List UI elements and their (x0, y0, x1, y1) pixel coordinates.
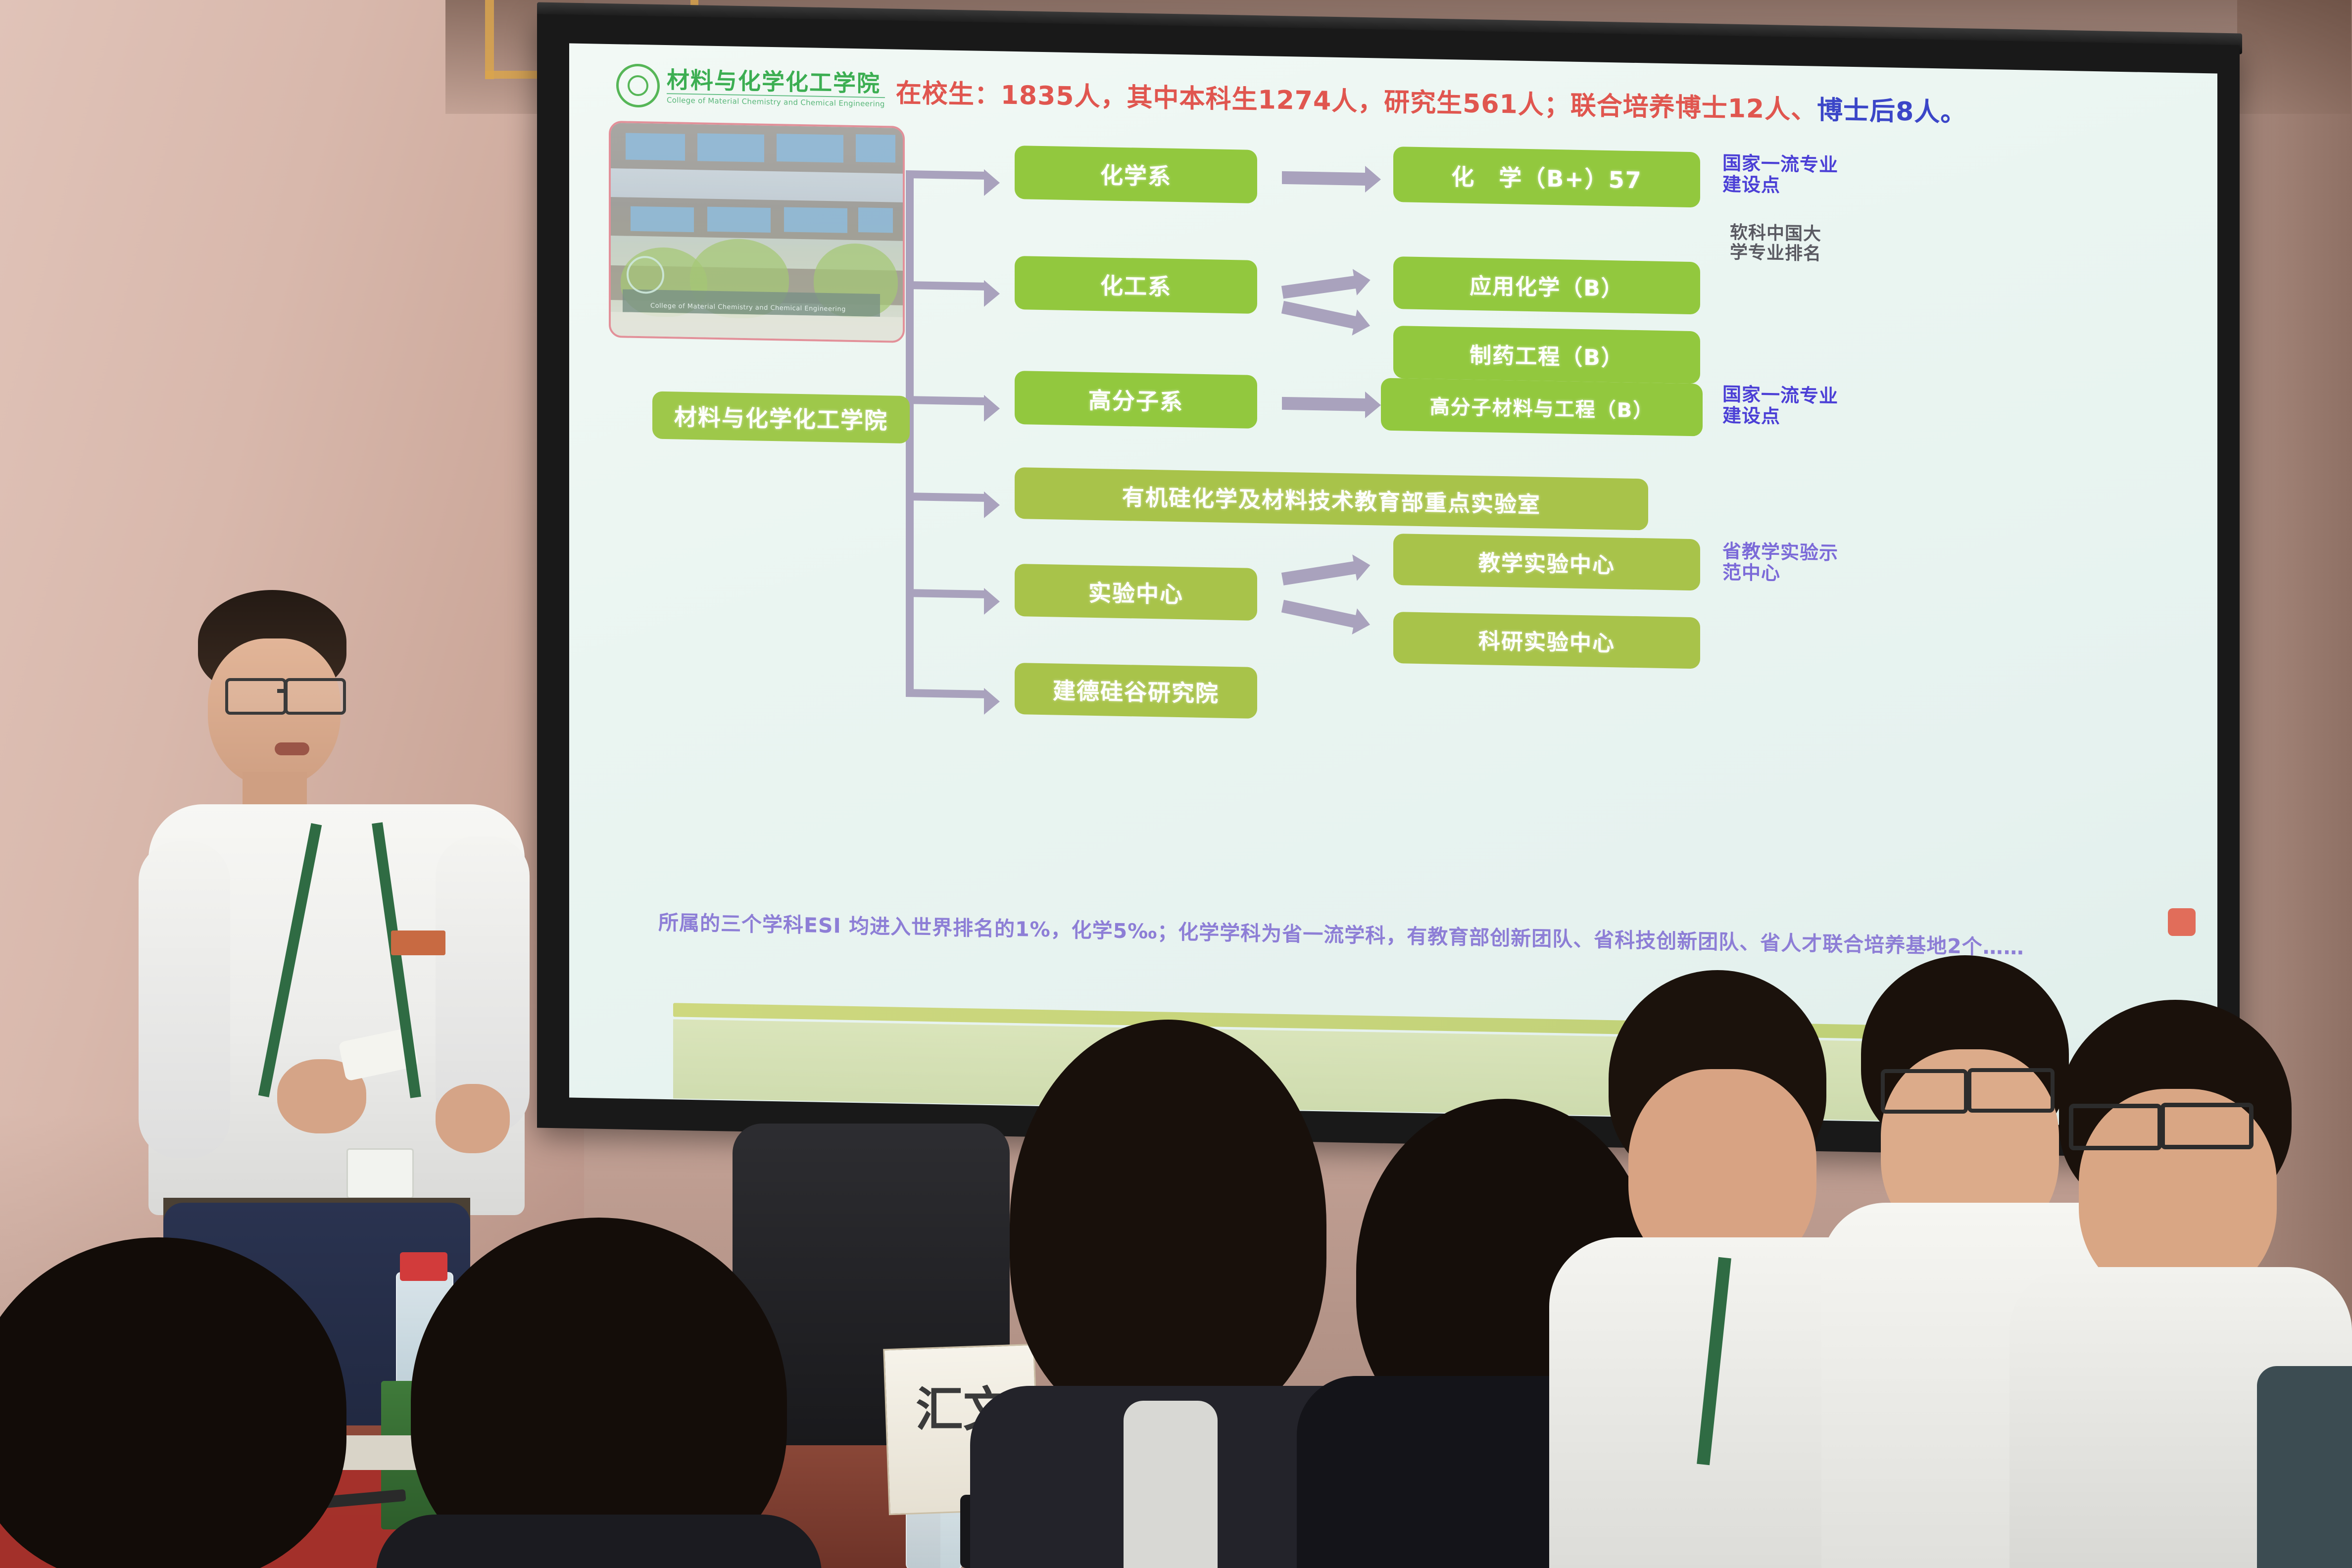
major-pharmaceutical-engineering[interactable]: 制药工程（B） (1393, 326, 1700, 384)
presenter-left-arm (139, 841, 230, 1158)
branch-3-head (984, 395, 1000, 422)
annotation-national-first-class-2: 国家一流专业建设点 (1722, 384, 1841, 428)
watermark-icon (2168, 908, 2196, 936)
arrow-chem-to-major (1282, 171, 1366, 186)
presenter-mouth (275, 742, 309, 755)
branch-5 (906, 589, 985, 598)
audience-member-7-glasses-right (2160, 1103, 2254, 1149)
presenter-badge (346, 1148, 414, 1199)
audience-member-6-glasses-left (1881, 1069, 1968, 1114)
college-building-photo: College of Material Chemistry and Chemic… (609, 121, 905, 343)
college-logo: 材料与化学化工学院 College of Material Chemistry … (616, 63, 885, 112)
branch-6 (906, 689, 985, 698)
photo-seal-icon (627, 256, 664, 294)
logo-chinese-name: 材料与化学化工学院 (667, 68, 885, 95)
branch-2-head (984, 280, 1000, 307)
major-chemistry[interactable]: 化 学（B+）57 (1393, 147, 1700, 207)
arrow-center-to-research (1281, 600, 1357, 628)
arrow-polymer-to-major (1282, 397, 1366, 411)
branch-1-head (984, 169, 1000, 196)
department-polymer[interactable]: 高分子系 (1015, 371, 1257, 429)
audience-chair-back (2257, 1366, 2352, 1568)
ceiling-tape-1 (485, 0, 494, 79)
slide-title-blue: 博士后8人。 (1817, 95, 1966, 128)
water-bottle-1-cap (400, 1252, 447, 1281)
arrow-chemeng-to-pharma (1281, 301, 1357, 329)
department-chemical-engineering[interactable]: 化工系 (1015, 256, 1257, 314)
branch-3 (906, 396, 985, 405)
presenter-right-hand (436, 1084, 510, 1153)
slide-title-red: 在校生：1835人，其中本科生1274人，研究生561人；联合培养博士12人、 (896, 78, 1817, 125)
slide-title: 在校生：1835人，其中本科生1274人，研究生561人；联合培养博士12人、博… (896, 72, 1967, 129)
unit-key-laboratory[interactable]: 有机硅化学及材料技术教育部重点实验室 (1015, 467, 1648, 530)
branch-1 (906, 170, 985, 180)
audience-member-3-collar (1124, 1401, 1218, 1568)
unit-experiment-center[interactable]: 实验中心 (1015, 564, 1257, 621)
branch-6-head (984, 688, 1000, 715)
college-seal-icon (616, 63, 660, 108)
center-research-lab[interactable]: 科研实验中心 (1393, 612, 1700, 669)
major-applied-chemistry[interactable]: 应用化学（B） (1393, 256, 1700, 314)
arrow-chemeng-to-applied (1281, 276, 1357, 299)
presenter-glasses-left (225, 678, 287, 715)
audience-member-7-glasses-left (2069, 1104, 2162, 1150)
presenter-glasses-right (285, 678, 346, 715)
presenter-glasses-bridge (277, 689, 287, 693)
branch-2 (906, 281, 985, 291)
branch-5-head (984, 588, 1000, 615)
audience-member-2-body (376, 1515, 822, 1568)
presenter-pocket-pen (391, 931, 445, 955)
root-node-college[interactable]: 材料与化学化工学院 (652, 392, 910, 444)
arrow-center-to-teaching (1281, 561, 1357, 586)
branch-4 (906, 492, 985, 502)
branch-4-head (984, 491, 1000, 519)
annotation-shanghairanking: 软科中国大学专业排名 (1730, 223, 1829, 264)
annotation-national-first-class-1: 国家一流专业建设点 (1722, 152, 1841, 196)
photo-scene: 材料与化学化工学院 College of Material Chemistry … (0, 0, 2352, 1568)
center-teaching-lab[interactable]: 教学实验中心 (1393, 534, 1700, 590)
department-chemistry[interactable]: 化学系 (1015, 146, 1257, 203)
slide-footer-paragraph: 所属的三个学科ESI 均进入世界排名的1%，化学5‰；化学学科为省一流学科，有教… (658, 909, 2173, 965)
audience-member-6-glasses-right (1967, 1068, 2055, 1113)
audience-member-3-hair (1010, 1020, 1326, 1430)
annotation-province-demo-center: 省教学实验示范中心 (1722, 540, 1841, 585)
unit-jiande-institute[interactable]: 建德硅谷研究院 (1015, 663, 1257, 719)
major-polymer-materials[interactable]: 高分子材料与工程（B） (1381, 378, 1703, 437)
